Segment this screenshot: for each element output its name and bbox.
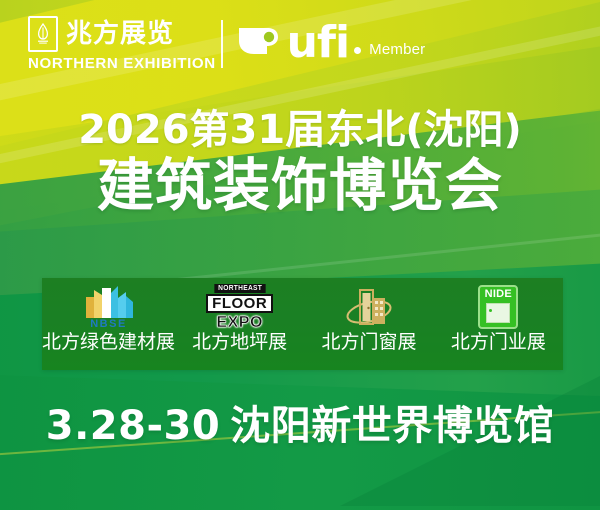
nide-door-shape [486, 303, 510, 323]
leaf-emblem-icon [28, 16, 58, 52]
event-venue: 沈阳新世界博览馆 [230, 403, 554, 449]
exhibition-poster: 兆方展览 NORTHERN EXHIBITION ufi Member 2026… [0, 0, 600, 510]
nide-door-logo: NIDE [478, 283, 518, 331]
headline-line-2: 建筑装饰博览会 [0, 155, 600, 218]
sub-expo-label-doorwindow: 北方门窗展 [322, 333, 417, 352]
headline-line-1: 2026第31届东北(沈阳) [0, 108, 600, 153]
sub-expo-item-doorwindow[interactable]: 北方门窗展 [304, 278, 433, 370]
northeast-floor-expo-logo: NORTHEAST FLOOR EXPO [206, 283, 273, 331]
sub-expo-band: NBSE 北方绿色建材展 NORTHEAST FLOOR EXPO 北方地坪展 [42, 278, 563, 370]
organizer-logo-top: 兆方展览 [28, 16, 174, 52]
sub-expo-label-nbse: 北方绿色建材展 [42, 333, 175, 352]
nbse-buildings-logo: NBSE [78, 283, 140, 331]
organizer-logo: 兆方展览 NORTHERN EXHIBITION [28, 16, 209, 72]
event-dates: 3.28-30 [46, 403, 220, 449]
page-title: 2026第31届东北(沈阳) 建筑装饰博览会 [0, 108, 600, 217]
header-divider [221, 20, 223, 68]
organizer-name-cn: 兆方展览 [66, 21, 174, 47]
door-window-building-logo [342, 283, 396, 331]
event-details: 3.28-30沈阳新世界博览馆 [0, 404, 600, 448]
floor-logo-floor: FLOOR [206, 294, 273, 313]
sub-expo-label-nide: 北方门业展 [451, 333, 546, 352]
poster-header: 兆方展览 NORTHERN EXHIBITION ufi Member [28, 16, 425, 72]
nbse-logo-text: NBSE [90, 319, 127, 330]
nide-logo-text: NIDE [485, 289, 512, 300]
organizer-name-en: NORTHERN EXHIBITION [28, 57, 216, 72]
ufi-separator-dot [354, 47, 361, 54]
ufi-wordmark: ufi [287, 24, 350, 61]
ufi-swoosh-icon [237, 24, 291, 63]
sub-expo-item-nbse[interactable]: NBSE 北方绿色建材展 [42, 278, 175, 370]
sub-expo-label-floor: 北方地坪展 [192, 333, 287, 352]
ufi-member-label: Member [369, 41, 425, 58]
floor-logo-expo: EXPO [216, 315, 262, 331]
sub-expo-item-floor[interactable]: NORTHEAST FLOOR EXPO 北方地坪展 [175, 278, 304, 370]
sub-expo-item-nide[interactable]: NIDE 北方门业展 [434, 278, 563, 370]
ufi-member-badge: ufi Member [237, 24, 426, 63]
floor-logo-northeast: NORTHEAST [214, 284, 266, 293]
